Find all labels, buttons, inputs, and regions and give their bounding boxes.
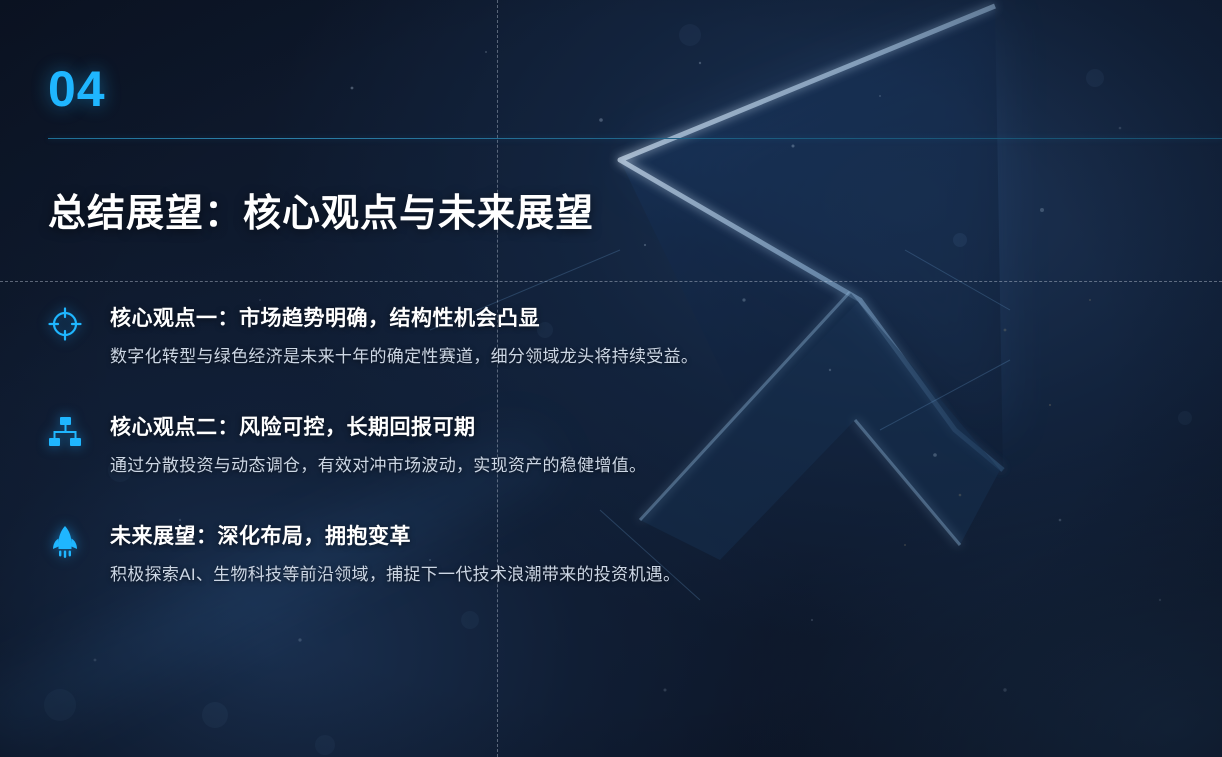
slide-root: 04 总结展望：核心观点与未来展望 核心观点一：市场趋势明确，结构性机会凸显 (0, 0, 1222, 757)
rocket-icon (48, 523, 96, 563)
page-title: 总结展望：核心观点与未来展望 (48, 182, 594, 237)
list-item-body: 核心观点二：风险可控，长期回报可期 通过分散投资与动态调仓，有效对冲市场波动，实… (96, 414, 1108, 479)
list-item-body: 核心观点一：市场趋势明确，结构性机会凸显 数字化转型与绿色经济是未来十年的确定性… (96, 305, 1108, 370)
accent-rule-divider (48, 138, 1222, 139)
slide-content: 04 总结展望：核心观点与未来展望 核心观点一：市场趋势明确，结构性机会凸显 (0, 0, 1222, 757)
list-item: 未来展望：深化布局，拥抱变革 积极探索AI、生物科技等前沿领域，捕捉下一代技术浪… (48, 523, 1108, 588)
list-item: 核心观点二：风险可控，长期回报可期 通过分散投资与动态调仓，有效对冲市场波动，实… (48, 414, 1108, 479)
key-point-heading: 未来展望：深化布局，拥抱变革 (110, 523, 1108, 551)
key-point-heading: 核心观点一：市场趋势明确，结构性机会凸显 (110, 305, 1108, 333)
section-number: 04 (48, 64, 106, 114)
key-point-description: 积极探索AI、生物科技等前沿领域，捕捉下一代技术浪潮带来的投资机遇。 (110, 562, 1108, 588)
crosshair-target-icon (48, 305, 96, 345)
list-item-body: 未来展望：深化布局，拥抱变革 积极探索AI、生物科技等前沿领域，捕捉下一代技术浪… (96, 523, 1108, 588)
key-points-list: 核心观点一：市场趋势明确，结构性机会凸显 数字化转型与绿色经济是未来十年的确定性… (48, 305, 1108, 588)
key-point-description: 数字化转型与绿色经济是未来十年的确定性赛道，细分领域龙头将持续受益。 (110, 344, 1108, 370)
sitemap-hierarchy-icon (48, 414, 96, 454)
key-point-description: 通过分散投资与动态调仓，有效对冲市场波动，实现资产的稳健增值。 (110, 453, 1108, 479)
list-item: 核心观点一：市场趋势明确，结构性机会凸显 数字化转型与绿色经济是未来十年的确定性… (48, 305, 1108, 370)
key-point-heading: 核心观点二：风险可控，长期回报可期 (110, 414, 1108, 442)
